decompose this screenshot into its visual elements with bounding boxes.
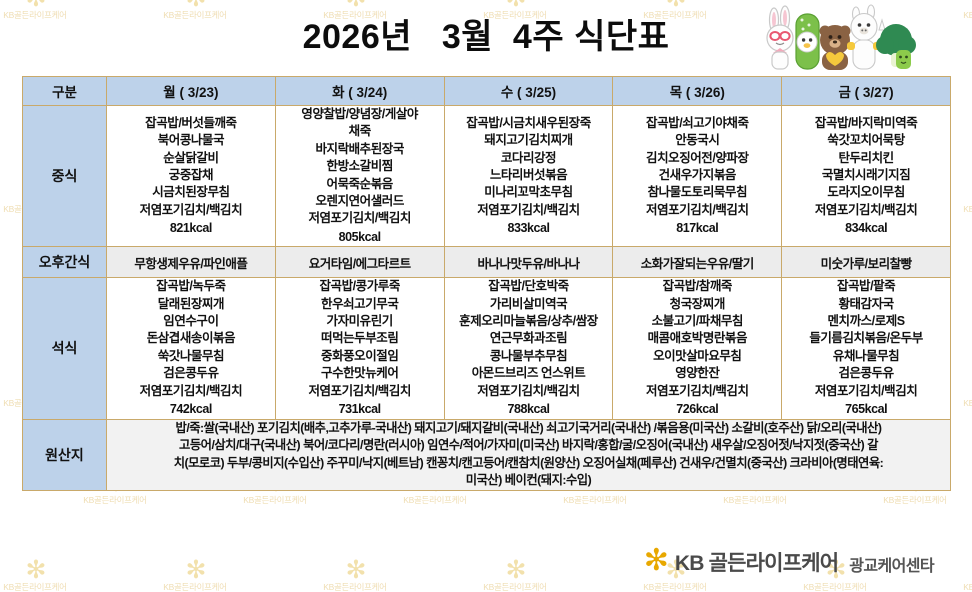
broccoli-mascot: [876, 24, 916, 69]
dish-item: 저염포기김치/백김치: [107, 383, 275, 400]
dish-item: 잡곡밥/시금치새우된장죽: [445, 115, 613, 132]
dish-item: 저염포기김치/백김치: [276, 383, 444, 400]
dish-item: 저염포기김치/백김치: [613, 202, 781, 219]
snack-cell-thu: 소화가잘되는우유/딸기: [613, 247, 782, 278]
dish-item: 오렌지연어샐러드: [276, 193, 444, 210]
dish-item: 쑥갓나물무침: [107, 348, 275, 365]
mascot-illustration: [752, 0, 920, 74]
document-footer: ✻ KB 골든라이프케어 광교케어센타: [0, 543, 972, 592]
snack-cell-mon: 무항생제우유/파인애플: [107, 247, 276, 278]
dish-item: 가리비살미역국: [445, 296, 613, 313]
dish-item: 잡곡밥/참깨죽: [613, 278, 781, 295]
dish-item: 돼지고기김치찌개: [445, 132, 613, 149]
calorie-value: 788kcal: [445, 401, 613, 418]
dish-item: 영양찰밥/양념장/게살야: [276, 106, 444, 123]
dinner-cell-wed: 잡곡밥/단호박죽가리비살미역국훈제오리마늘볶음/상추/쌈장연근무화과조림콩나물부…: [444, 278, 613, 419]
dish-item: 잡곡밥/팥죽: [782, 278, 950, 295]
dish-item: 저염포기김치/백김치: [276, 210, 444, 227]
dinner-cell-thu: 잡곡밥/참깨죽청국장찌개소불고기/파채무침매콤애호박명란볶음오이맛살마요무침영양…: [613, 278, 782, 419]
calorie-value: 834kcal: [782, 220, 950, 237]
calorie-value: 765kcal: [782, 401, 950, 418]
dish-item: 김치오징어전/양파장: [613, 150, 781, 167]
header-day-mon: 월 ( 3/23): [107, 77, 276, 106]
dish-item: 매콤애호박명란볶음: [613, 330, 781, 347]
bear-mascot: [820, 25, 851, 70]
dish-item: 바지락배추된장국: [276, 141, 444, 158]
row-label-origin: 원산지: [23, 419, 107, 490]
dish-item: 코다리강정: [445, 150, 613, 167]
header-day-fri: 금 ( 3/27): [782, 77, 951, 106]
snack-cell-fri: 미숫가루/보리찰빵: [782, 247, 951, 278]
calorie-value: 742kcal: [107, 401, 275, 418]
row-label-lunch: 중식: [23, 106, 107, 247]
dish-item: 떠먹는두부조림: [276, 330, 444, 347]
header-day-tue: 화 ( 3/24): [275, 77, 444, 106]
dish-item: 돈삼겹새송이볶음: [107, 330, 275, 347]
dish-item: 북어콩나물국: [107, 132, 275, 149]
dish-item: 달래된장찌개: [107, 296, 275, 313]
weekly-menu-table: 구분 월 ( 3/23) 화 ( 3/24) 수 ( 3/25) 목 ( 3/2…: [22, 76, 951, 491]
table-header-row: 구분 월 ( 3/23) 화 ( 3/24) 수 ( 3/25) 목 ( 3/2…: [23, 77, 951, 106]
dish-item: 들기름김치볶음/온두부: [782, 330, 950, 347]
dish-item: 훈제오리마늘볶음/상추/쌈장: [445, 313, 613, 330]
dish-item: 쑥갓꼬치어묵탕: [782, 132, 950, 149]
dish-item: 저염포기김치/백김치: [782, 383, 950, 400]
dish-item: 저염포기김치/백김치: [445, 383, 613, 400]
calorie-value: 833kcal: [445, 220, 613, 237]
dish-item: 잡곡밥/녹두죽: [107, 278, 275, 295]
dish-item: 오이맛살마요무침: [613, 348, 781, 365]
dish-item: 잡곡밥/콩가루죽: [276, 278, 444, 295]
row-label-snack: 오후간식: [23, 247, 107, 278]
dish-item: 어묵죽순볶음: [276, 176, 444, 193]
dish-item: 궁중잡채: [107, 167, 275, 184]
dish-item: 미나리꼬막초무침: [445, 184, 613, 201]
row-label-dinner: 석식: [23, 278, 107, 419]
dish-item: 참나물도토리묵무침: [613, 184, 781, 201]
lunch-cell-fri: 잡곡밥/바지락미역죽쑥갓꼬치어묵탕탄두리치킨국멸치시래기지짐도라지오이무침저염포…: [782, 106, 951, 247]
alpaca-mascot: [847, 5, 885, 69]
lunch-cell-mon: 잡곡밥/버섯들깨죽북어콩나물국순살닭갈비궁중잡채시금치된장무침저염포기김치/백김…: [107, 106, 276, 247]
dish-item: 소불고기/파채무침: [613, 313, 781, 330]
dish-item: 저염포기김치/백김치: [107, 202, 275, 219]
dish-item: 검은콩두유: [107, 365, 275, 382]
dish-item: 채죽: [276, 123, 444, 140]
lunch-cell-thu: 잡곡밥/쇠고기야채죽안동국시김치오징어전/양파장건새우가지볶음참나물도토리묵무침…: [613, 106, 782, 247]
lunch-cell-wed: 잡곡밥/시금치새우된장죽돼지고기김치찌개코다리강정느타리버섯볶음미나리꼬막초무침…: [444, 106, 613, 247]
dish-item: 가자미유린기: [276, 313, 444, 330]
dish-item: 검은콩두유: [782, 365, 950, 382]
dish-item: 연근무화과조림: [445, 330, 613, 347]
dish-item: 유채나물무침: [782, 348, 950, 365]
dinner-cell-fri: 잡곡밥/팥죽황태감자국멘치까스/로제S들기름김치볶음/온두부유채나물무침검은콩두…: [782, 278, 951, 419]
header-day-thu: 목 ( 3/26): [613, 77, 782, 106]
rabbit-mascot: [767, 6, 793, 69]
dish-item: 시금치된장무침: [107, 184, 275, 201]
dish-item: 한방소갈비찜: [276, 158, 444, 175]
dish-item: 황태감자국: [782, 296, 950, 313]
snack-row: 오후간식 무항생제우유/파인애플 요거타임/에그타르트 바나나맛두유/바나나 소…: [23, 247, 951, 278]
dish-item: 임연수구이: [107, 313, 275, 330]
dish-item: 순살닭갈비: [107, 150, 275, 167]
dish-item: 국멸치시래기지짐: [782, 167, 950, 184]
header-category: 구분: [23, 77, 107, 106]
menu-plan-document: 2026년 3월 4주 식단표: [0, 0, 972, 592]
origin-line: 고등어/삼치/대구(국내산) 북어/코다리/명란(러시아) 임연수/적어/가자미…: [107, 437, 950, 455]
snack-cell-wed: 바나나맛두유/바나나: [444, 247, 613, 278]
calorie-value: 805kcal: [276, 229, 444, 246]
dish-item: 안동국시: [613, 132, 781, 149]
dish-item: 저염포기김치/백김치: [445, 202, 613, 219]
dish-item: 저염포기김치/백김치: [613, 383, 781, 400]
calorie-value: 726kcal: [613, 401, 781, 418]
lunch-row: 중식 잡곡밥/버섯들깨죽북어콩나물국순살닭갈비궁중잡채시금치된장무침저염포기김치…: [23, 106, 951, 247]
footer-brand: ✻ KB 골든라이프케어 광교케어센타: [644, 547, 934, 577]
dinner-cell-mon: 잡곡밥/녹두죽달래된장찌개임연수구이돈삼겹새송이볶음쑥갓나물무침검은콩두유저염포…: [107, 278, 276, 419]
document-header: 2026년 3월 4주 식단표: [0, 0, 972, 76]
dish-item: 잡곡밥/버섯들깨죽: [107, 115, 275, 132]
calorie-value: 817kcal: [613, 220, 781, 237]
dinner-cell-tue: 잡곡밥/콩가루죽한우쇠고기무국가자미유린기떠먹는두부조림중화풍오이절임구수한맛뉴…: [275, 278, 444, 419]
kb-star-icon: ✻: [644, 546, 666, 576]
dish-item: 도라지오이무침: [782, 184, 950, 201]
lunch-cell-tue: 영양찰밥/양념장/게살야채죽바지락배추된장국한방소갈비찜어묵죽순볶음오렌지연어샐…: [275, 106, 444, 247]
origin-line: 치(모로코) 두부/콩비지(수입산) 주꾸미/낙지(베트남) 캔꽁치/캔고등어/…: [107, 455, 950, 473]
dish-item: 구수한맛뉴케어: [276, 365, 444, 382]
calorie-value: 731kcal: [276, 401, 444, 418]
dish-item: 청국장찌개: [613, 296, 781, 313]
dish-item: 영양한잔: [613, 365, 781, 382]
calorie-value: 821kcal: [107, 220, 275, 237]
dish-item: 콩나물부추무침: [445, 348, 613, 365]
dish-item: 잡곡밥/바지락미역죽: [782, 115, 950, 132]
dish-item: 저염포기김치/백김치: [782, 202, 950, 219]
dish-item: 한우쇠고기무국: [276, 296, 444, 313]
dish-item: 탄두리치킨: [782, 150, 950, 167]
snack-cell-tue: 요거타임/에그타르트: [275, 247, 444, 278]
brand-name: KB 골든라이프케어: [675, 547, 838, 577]
cucumber-mascot: [796, 14, 819, 69]
dish-item: 건새우가지볶음: [613, 167, 781, 184]
origin-line: 미국산) 베이컨(돼지:수입): [107, 472, 950, 490]
origin-row: 원산지 밥/죽:쌀(국내산) 포기김치(배추,고추가루-국내산) 돼지고기/돼지…: [23, 419, 951, 490]
care-center-name: 광교케어센타: [847, 552, 934, 576]
dish-item: 잡곡밥/쇠고기야채죽: [613, 115, 781, 132]
dish-item: 아몬드브리즈 언스위트: [445, 365, 613, 382]
header-day-wed: 수 ( 3/25): [444, 77, 613, 106]
dish-item: 멘치까스/로제S: [782, 313, 950, 330]
dish-item: 느타리버섯볶음: [445, 167, 613, 184]
dinner-row: 석식 잡곡밥/녹두죽달래된장찌개임연수구이돈삼겹새송이볶음쑥갓나물무침검은콩두유…: [23, 278, 951, 419]
origin-line: 밥/죽:쌀(국내산) 포기김치(배추,고추가루-국내산) 돼지고기/돼지갈비(국…: [107, 420, 950, 438]
origin-text: 밥/죽:쌀(국내산) 포기김치(배추,고추가루-국내산) 돼지고기/돼지갈비(국…: [107, 419, 951, 490]
dish-item: 중화풍오이절임: [276, 348, 444, 365]
dish-item: 잡곡밥/단호박죽: [445, 278, 613, 295]
